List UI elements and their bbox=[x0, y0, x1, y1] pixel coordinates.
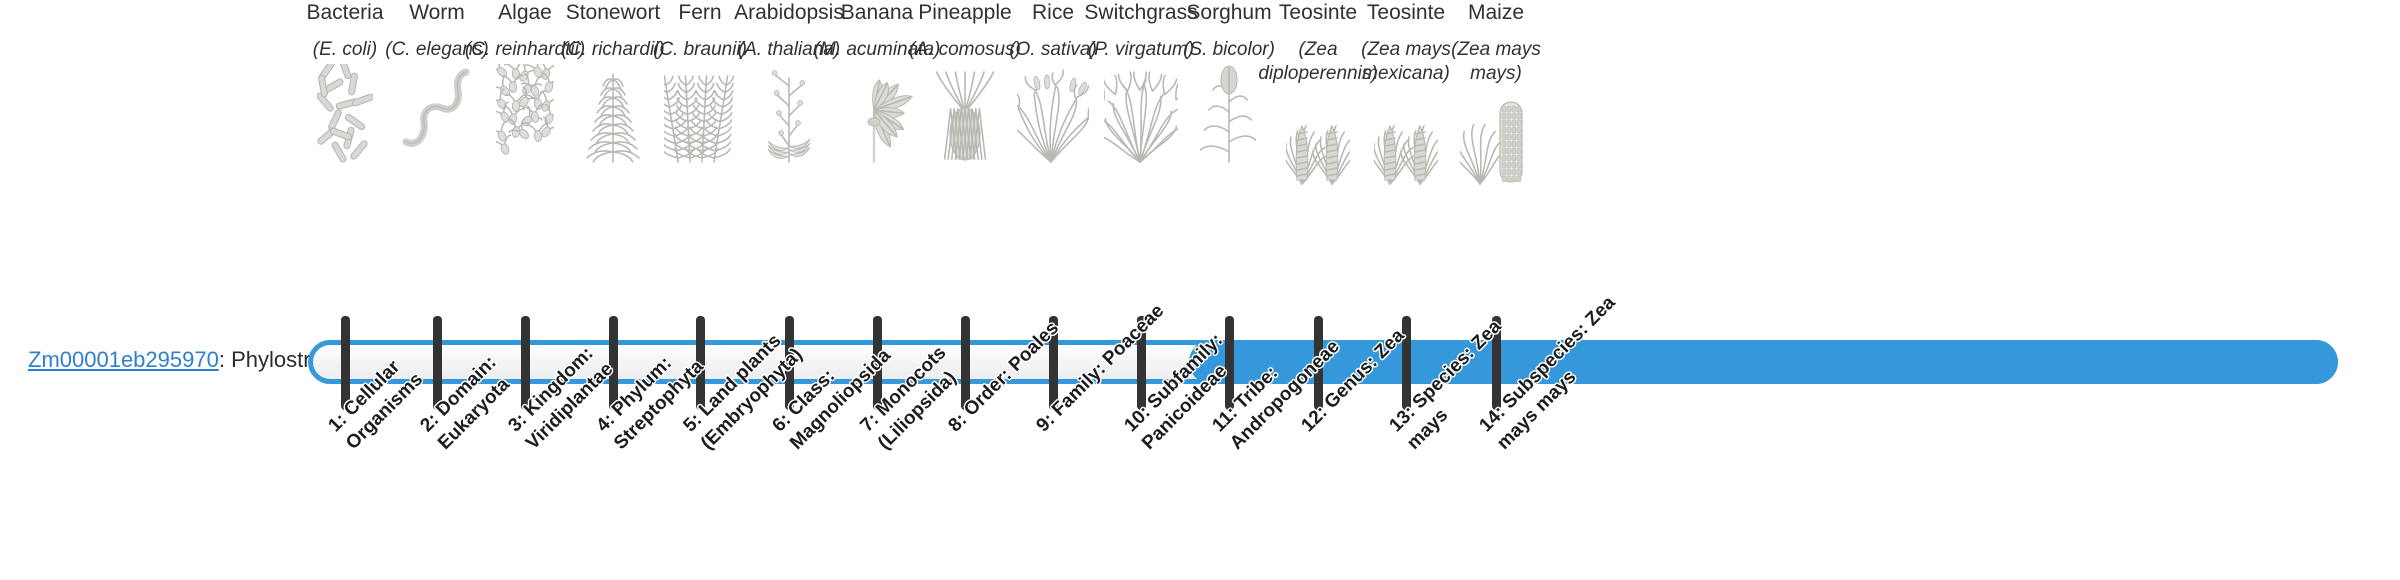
species-scientific-name: (Zea mays mays) bbox=[1432, 38, 1560, 86]
species-common-name: Bacteria bbox=[306, 0, 383, 26]
gene-id-link[interactable]: Zm00001eb295970 bbox=[28, 347, 219, 372]
species-common-name: Worm bbox=[409, 0, 465, 26]
species-column-maize-13: Maize(Zea mays mays) bbox=[1432, 0, 1560, 188]
gene-label-separator: : bbox=[219, 347, 231, 372]
species-common-name: Algae bbox=[498, 0, 552, 26]
species-common-name: Fern bbox=[678, 0, 721, 26]
species-common-name: Rice bbox=[1032, 0, 1074, 26]
maize-illustration bbox=[1432, 92, 1560, 188]
rank-number: 12: bbox=[1297, 402, 1331, 436]
species-common-name: Maize bbox=[1468, 0, 1524, 26]
phylostratigraphy-figure: Bacteria(E. coli)Worm(C. elegans)Algae(C… bbox=[0, 0, 2400, 580]
species-scientific-name: (E. coli) bbox=[313, 38, 377, 62]
species-header-row: Bacteria(E. coli)Worm(C. elegans)Algae(C… bbox=[0, 0, 2400, 320]
